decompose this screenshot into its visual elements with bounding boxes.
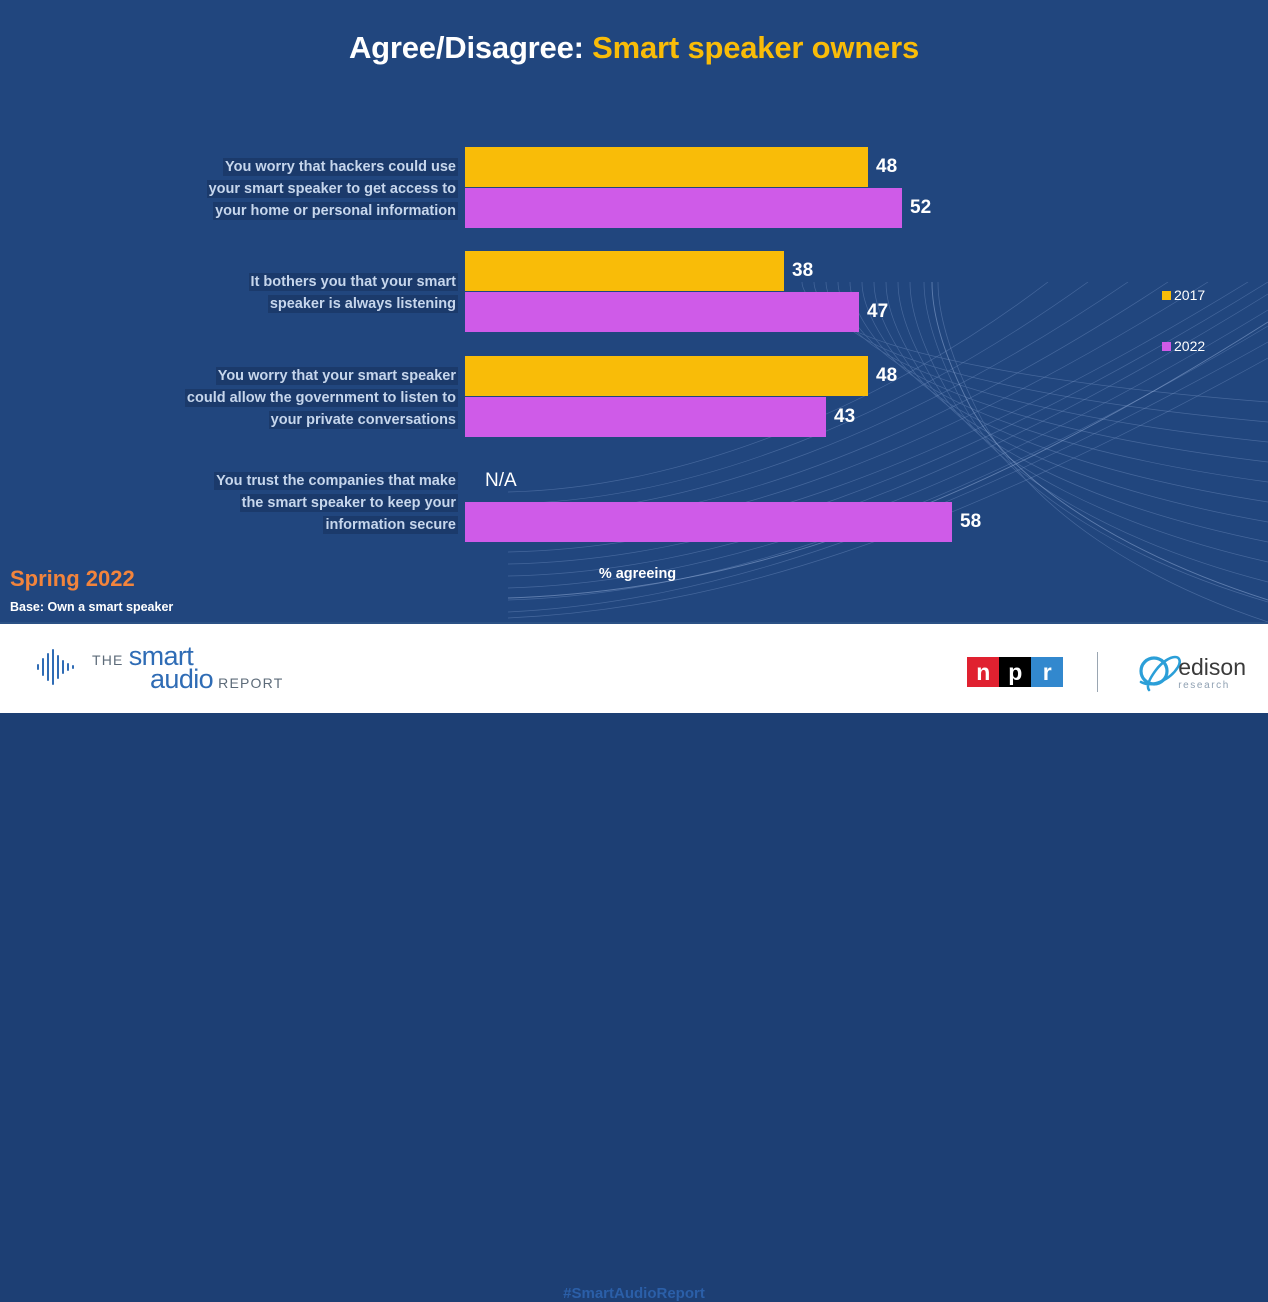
edison-subtitle: research [1178,680,1246,691]
chart-legend: 2017 2022 [1162,284,1205,357]
category-label-4-line-3: information secure [323,516,458,534]
edison-research-logo[interactable]: edison research [1132,650,1246,694]
bar-value-2022-2: 47 [867,301,888,323]
sar-report: REPORT [213,675,283,691]
legend-swatch-2022-icon [1162,342,1171,351]
sar-the: THE [92,652,129,668]
legend-swatch-2017-icon [1162,291,1171,300]
bar-2017-1[interactable] [465,147,868,187]
legend-item-2022[interactable]: 2022 [1162,335,1205,357]
bar-value-2017-2: 38 [792,260,813,282]
bar-2017-3[interactable] [465,356,868,396]
bar-value-2017-4-na: N/A [485,470,517,492]
bar-value-2022-1: 52 [910,197,931,219]
npr-letter-n: n [967,657,999,687]
category-label-1-line-1: You worry that hackers could use [223,158,458,176]
edison-wordmark: edison research [1178,657,1246,691]
bar-2017-2[interactable] [465,251,784,291]
bar-2022-3[interactable] [465,397,826,437]
audio-waveform-icon [36,647,82,687]
edison-name: edison [1178,657,1246,679]
category-label-1: You worry that hackers could use your sm… [88,156,458,223]
category-label-2: It bothers you that your smart speaker i… [88,271,458,315]
footer-bar: THE smart audio REPORT #SmartAudioReport… [0,622,1268,713]
category-label-3-line-3: your private conversations [269,411,458,429]
bar-value-2017-1: 48 [876,156,897,178]
logo-divider [1097,652,1098,692]
sar-audio: audio [150,664,213,694]
bar-chart: You worry that hackers could use your sm… [0,0,1268,622]
hashtag-label: #SmartAudioReport [0,1285,1268,1302]
bar-2022-1[interactable] [465,188,902,228]
x-axis-label: % agreeing [465,566,810,582]
bar-value-2017-3: 48 [876,365,897,387]
legend-item-2017[interactable]: 2017 [1162,284,1205,306]
base-note: Base: Own a smart speaker [10,600,173,614]
legend-label-2022: 2022 [1174,338,1205,354]
bar-value-2022-4: 58 [960,511,981,533]
bar-2022-4[interactable] [465,502,952,542]
category-label-4-line-2: the smart speaker to keep your [240,494,458,512]
category-label-2-line-1: It bothers you that your smart [249,273,458,291]
category-label-2-line-2: speaker is always listening [268,295,458,313]
category-label-4: You trust the companies that make the sm… [88,470,458,537]
category-label-3-line-2: could allow the government to listen to [185,389,458,407]
season-label: Spring 2022 [10,566,135,592]
slide-canvas: Agree/Disagree: Smart speaker owners You… [0,0,1268,622]
npr-logo[interactable]: n p r [967,657,1063,687]
smart-audio-report-logo[interactable]: THE smart audio REPORT [36,640,283,694]
bar-2022-2[interactable] [465,292,859,332]
category-label-1-line-2: your smart speaker to get access to [207,180,458,198]
bar-value-2022-3: 43 [834,406,855,428]
category-label-1-line-3: your home or personal information [213,202,458,220]
npr-letter-p: p [999,657,1031,687]
category-label-4-line-1: You trust the companies that make [214,472,458,490]
legend-label-2017: 2017 [1174,287,1205,303]
category-label-3: You worry that your smart speaker could … [88,365,458,432]
category-label-3-line-1: You worry that your smart speaker [216,367,458,385]
partner-logos: n p r edison research [967,650,1246,694]
edison-orbit-icon [1132,650,1184,694]
npr-letter-r: r [1031,657,1063,687]
smart-audio-report-wordmark: THE smart audio REPORT [92,641,283,695]
